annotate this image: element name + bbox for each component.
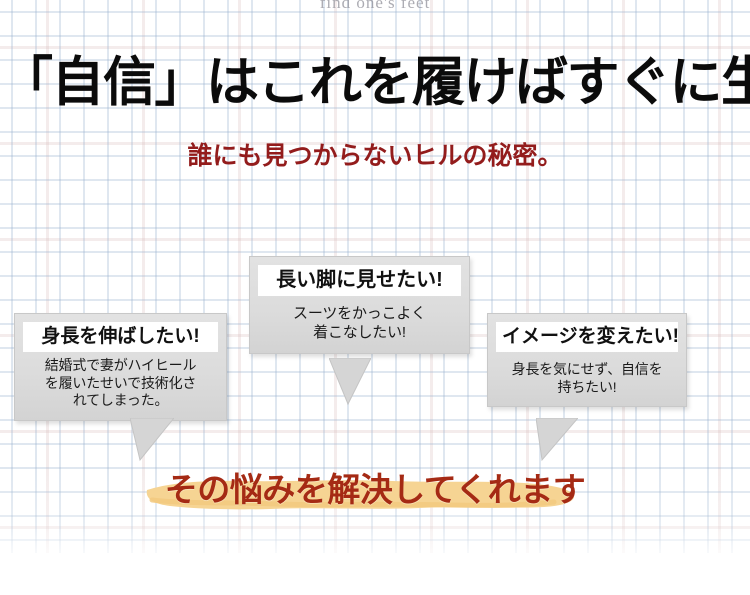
bottom-white-band <box>0 553 750 595</box>
bubble-body-line: を履いたせいで技術化さ <box>27 375 214 393</box>
bubble-body-line: スーツをかっこよく <box>262 305 457 324</box>
bubble-title: 身長を伸ばしたい! <box>23 322 218 352</box>
bubble-body-line: 着こなしたい! <box>262 324 457 343</box>
closing-banner: その悩みを解決してくれます <box>0 455 750 525</box>
speech-bubble-height: 身長を伸ばしたい! 結婚式で妻がハイヒール を履いたせいで技術化さ れてしまった… <box>14 313 227 421</box>
bubble-body: スーツをかっこよく 着こなしたい! <box>258 296 461 343</box>
bubble-title: イメージを変えたい! <box>496 322 678 352</box>
bubble-title: 長い脚に見せたい! <box>258 265 461 296</box>
closing-text: その悩みを解決してくれます <box>0 463 750 511</box>
page-headline: 「自信」はこれを履けばすぐに生まれる! <box>0 56 750 110</box>
page-subheadline: 誰にも見つからないヒルの秘密。 <box>0 136 750 172</box>
bubble-body: 身長を気にせず、自信を 持ちたい! <box>496 352 678 396</box>
bubble-body: 結婚式で妻がハイヒール を履いたせいで技術化さ れてしまった。 <box>23 352 218 410</box>
bubble-body-line: れてしまった。 <box>27 392 214 410</box>
bubble-tail-icon <box>329 358 371 406</box>
page-root: find one's feet 「自信」はこれを履けばすぐに生まれる! 誰にも見… <box>0 0 750 595</box>
speech-bubble-long-legs: 長い脚に見せたい! スーツをかっこよく 着こなしたい! <box>249 256 470 354</box>
bubble-body-line: 結婚式で妻がハイヒール <box>27 357 214 375</box>
eyebrow-text: find one's feet <box>0 0 750 13</box>
bubble-body-line: 持ちたい! <box>500 379 674 397</box>
speech-bubble-image-change: イメージを変えたい! 身長を気にせず、自信を 持ちたい! <box>487 313 687 407</box>
bubble-body-line: 身長を気にせず、自信を <box>500 361 674 379</box>
